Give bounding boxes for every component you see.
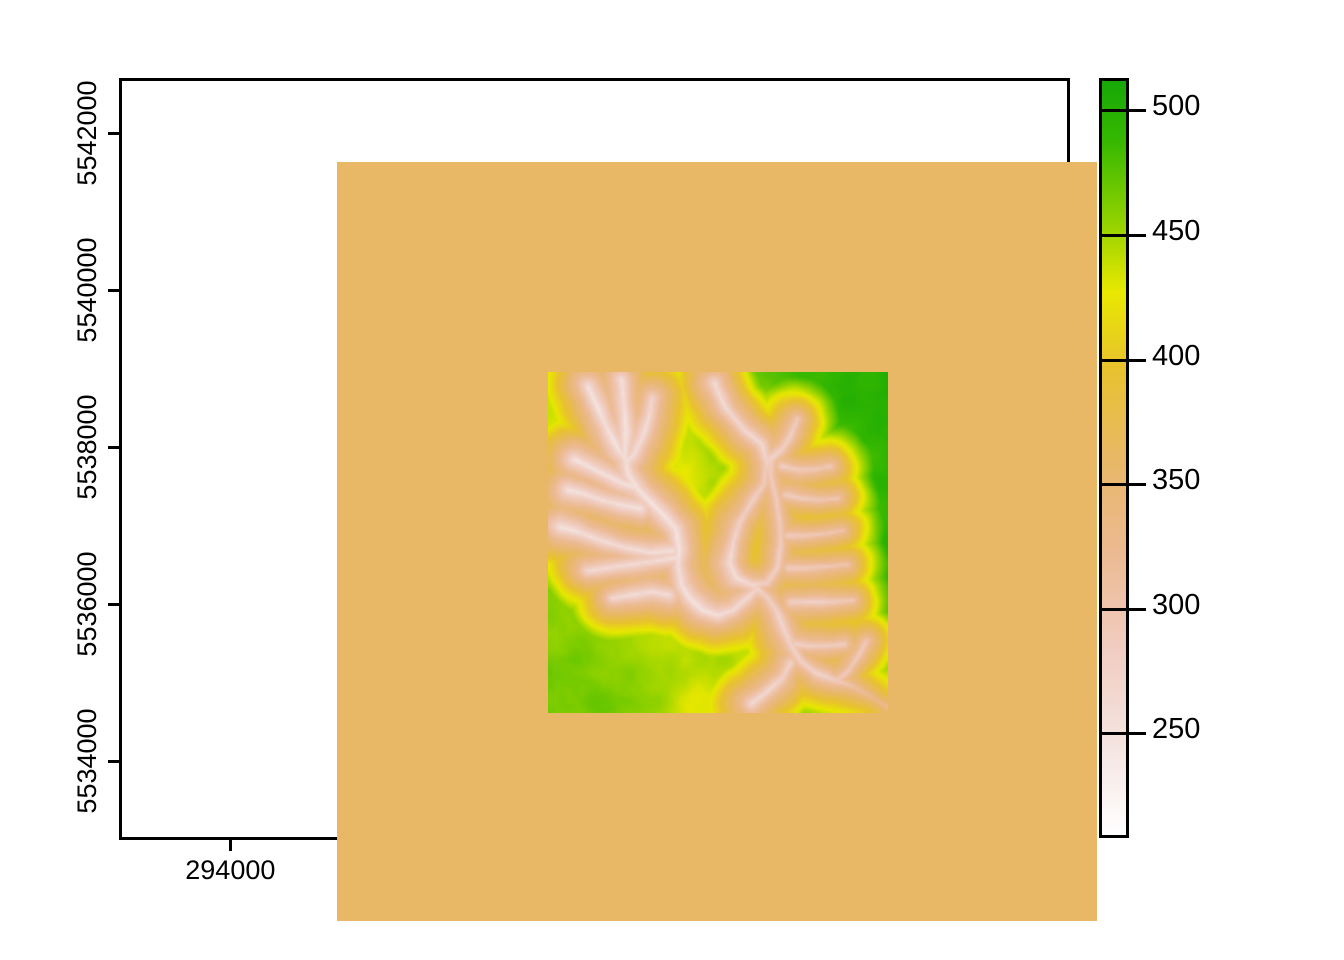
colorbar-tick — [1129, 109, 1146, 112]
colorbar-tick-label: 500 — [1152, 90, 1200, 123]
colorbar-tick — [1129, 608, 1146, 611]
y-axis-tick — [108, 760, 119, 763]
y-axis-tick-label: 5536000 — [72, 538, 103, 670]
y-axis-tick — [108, 603, 119, 606]
inner-fine-raster-layer — [548, 372, 888, 713]
colorbar-tick-label: 400 — [1152, 340, 1200, 373]
colorbar-gradient — [1102, 81, 1126, 835]
y-axis-tick-label: 5540000 — [72, 224, 103, 356]
colorbar-break-line — [1099, 359, 1129, 362]
colorbar-tick — [1129, 234, 1146, 237]
colorbar-tick — [1129, 359, 1146, 362]
y-axis-tick — [108, 446, 119, 449]
plot-figure: 55420005540000553800055360005534000 2940… — [0, 0, 1344, 960]
y-axis-tick-label: 5538000 — [72, 381, 103, 513]
y-axis-tick-label: 5542000 — [72, 67, 103, 199]
colorbar-tick-label: 350 — [1152, 464, 1200, 497]
colorbar-break-line — [1099, 608, 1129, 611]
colorbar-break-line — [1099, 732, 1129, 735]
colorbar-tick — [1129, 732, 1146, 735]
y-axis-tick — [108, 289, 119, 292]
x-axis-tick — [229, 840, 232, 851]
colorbar-break-line — [1099, 483, 1129, 486]
colorbar[interactable] — [1099, 78, 1129, 838]
x-axis-tick-label: 294000 — [140, 855, 320, 886]
colorbar-break-line — [1099, 109, 1129, 112]
terrain-canvas — [548, 372, 888, 713]
colorbar-tick — [1129, 483, 1146, 486]
colorbar-tick-label: 250 — [1152, 713, 1200, 746]
plot-area[interactable] — [119, 78, 1070, 840]
y-axis-tick — [108, 132, 119, 135]
colorbar-tick-label: 450 — [1152, 215, 1200, 248]
colorbar-tick-label: 300 — [1152, 589, 1200, 622]
colorbar-break-line — [1099, 234, 1129, 237]
y-axis-tick-label: 5534000 — [72, 695, 103, 827]
